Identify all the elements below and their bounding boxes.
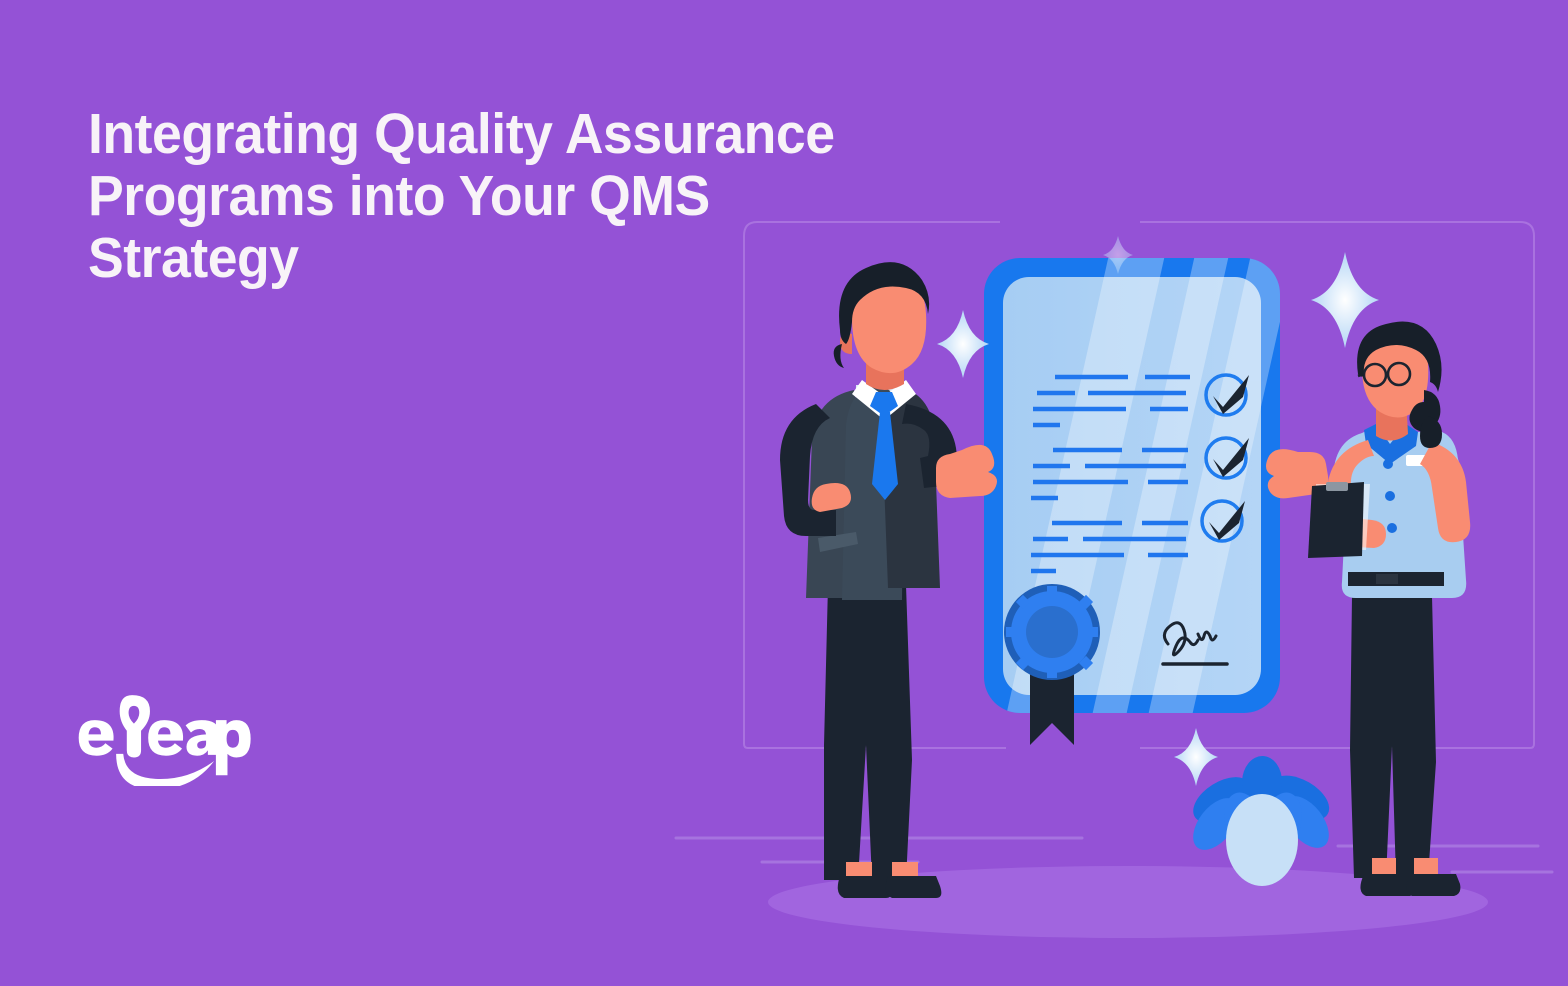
eleap-logo[interactable] xyxy=(76,688,256,786)
award-seal xyxy=(1004,584,1100,745)
promo-banner: Integrating Quality Assurance Programs i… xyxy=(0,0,1568,986)
potted-plant-prop xyxy=(1184,755,1338,886)
page-title: Integrating Quality Assurance Programs i… xyxy=(88,103,915,289)
sparkle-star xyxy=(1174,728,1218,786)
certificate-document xyxy=(984,250,1296,745)
clipboard-prop xyxy=(1308,482,1370,558)
sparkle-star xyxy=(937,310,989,378)
